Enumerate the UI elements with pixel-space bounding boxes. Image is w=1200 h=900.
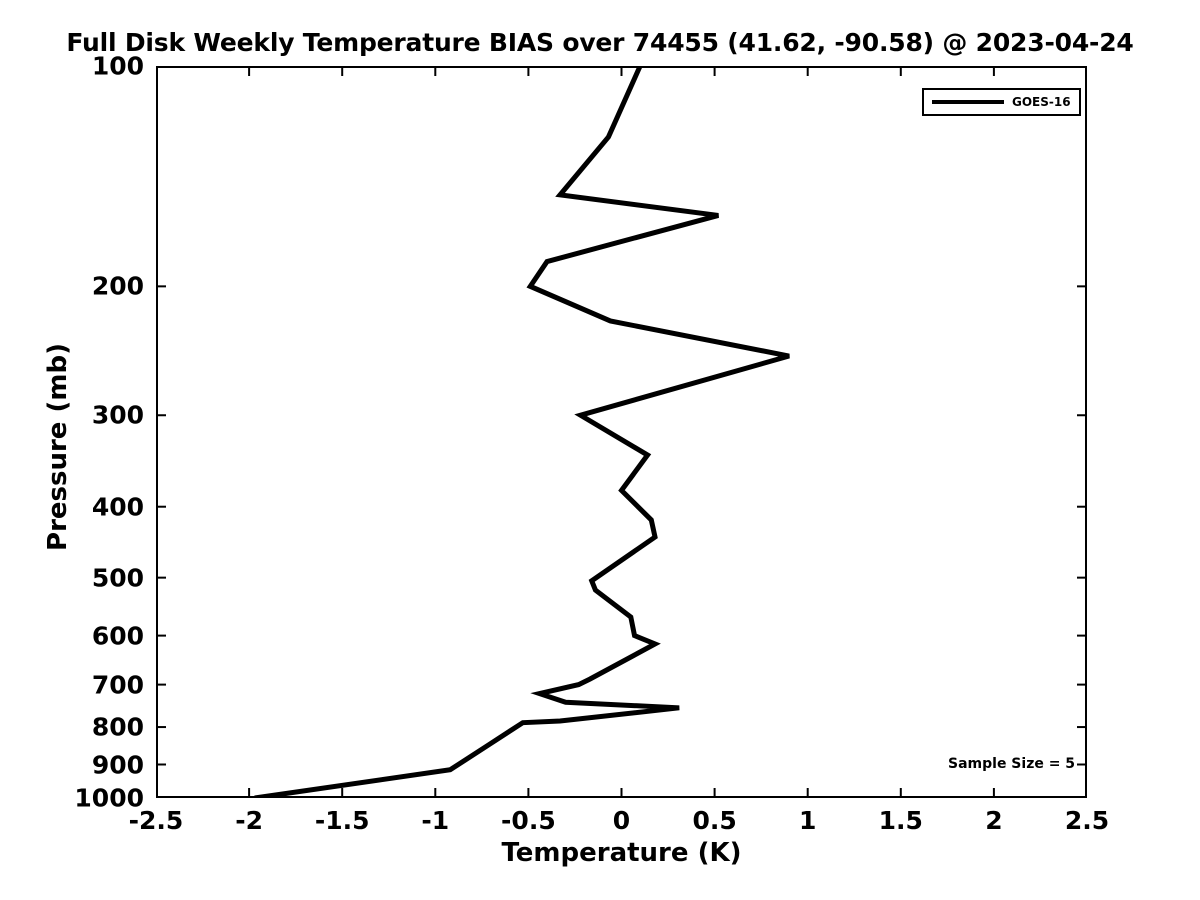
x-tick-label: -2.5	[129, 806, 184, 835]
x-tick-marks	[156, 66, 1087, 798]
data-series-group	[255, 66, 789, 798]
y-tick-label: 600	[0, 621, 144, 650]
x-tick-label: 0	[613, 806, 630, 835]
legend: GOES-16	[922, 88, 1081, 116]
sample-size-annotation: Sample Size = 5	[948, 756, 1075, 772]
y-tick-label: 700	[0, 670, 144, 699]
data-line-goes-16	[255, 66, 789, 798]
legend-line-swatch-goes-16	[932, 100, 1004, 104]
x-tick-label: 1	[799, 806, 816, 835]
x-tick-label: -2	[235, 806, 263, 835]
x-tick-label: -0.5	[501, 806, 556, 835]
x-axis-title: Temperature (K)	[156, 838, 1087, 868]
chart-title: Full Disk Weekly Temperature BIAS over 7…	[0, 28, 1200, 57]
x-tick-label: -1.5	[315, 806, 370, 835]
y-tick-label: 1000	[0, 784, 144, 813]
y-axis-title: Pressure (mb)	[43, 297, 73, 597]
plot-area	[156, 66, 1087, 798]
y-tick-label: 800	[0, 713, 144, 742]
x-tick-label: 2	[985, 806, 1002, 835]
y-tick-marks	[156, 66, 1087, 798]
x-tick-label: 0.5	[692, 806, 736, 835]
y-tick-label: 900	[0, 750, 144, 779]
chart-page: Full Disk Weekly Temperature BIAS over 7…	[0, 0, 1200, 900]
x-tick-label: -1	[421, 806, 449, 835]
y-tick-label: 100	[0, 52, 144, 81]
x-tick-label: 2.5	[1065, 806, 1109, 835]
legend-label-goes-16: GOES-16	[1012, 95, 1071, 109]
x-tick-label: 1.5	[879, 806, 923, 835]
